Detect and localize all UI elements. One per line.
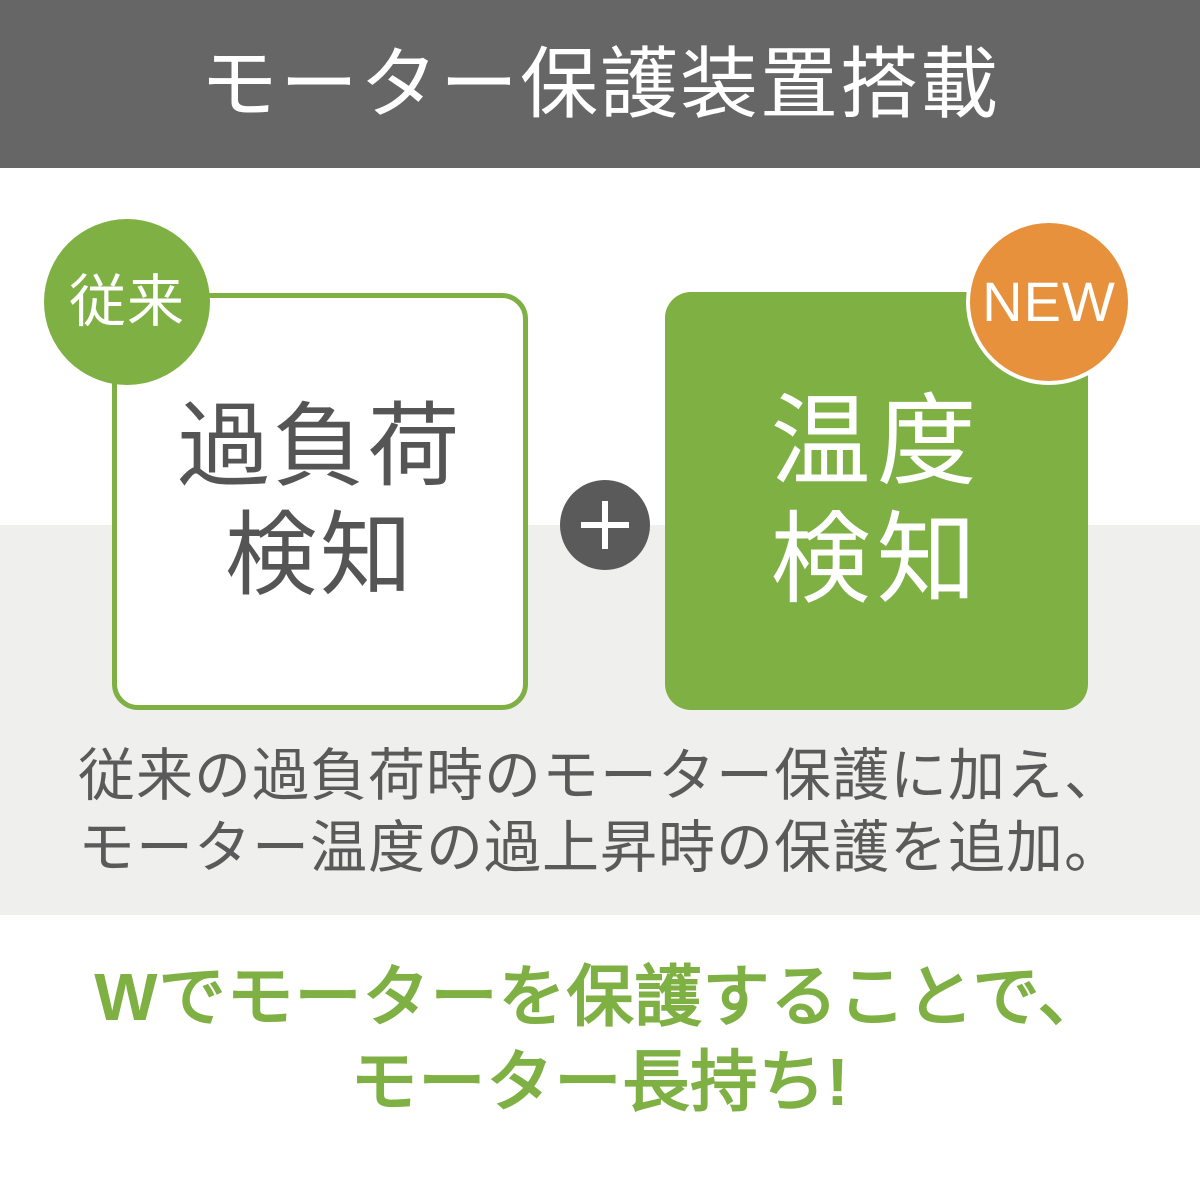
badge-new: NEW	[966, 219, 1132, 385]
plus-icon	[560, 480, 650, 570]
badge-conventional: 従来	[44, 219, 210, 385]
description-line-2: モーター温度の過上昇時の保護を追加。	[0, 812, 1200, 884]
badge-conventional-label: 従来	[69, 274, 185, 331]
tagline-block: Wでモーターを保護することで、 モーター長持ち!	[0, 955, 1200, 1125]
poster-root: モーター保護装置搭載 過負荷 検知 温度 検知 従来 NEW	[0, 0, 1200, 1200]
tagline-line-1: Wでモーターを保護することで、	[0, 955, 1200, 1040]
description-line-1: 従来の過負荷時のモーター保護に加え、	[0, 740, 1200, 812]
card-new-line-2: 検知	[771, 501, 983, 619]
card-conventional-line-2: 検知	[225, 502, 415, 611]
badge-new-label: NEW	[982, 274, 1116, 330]
card-new-line-1: 温度	[771, 383, 983, 501]
card-conventional-line-1: 過負荷	[177, 393, 462, 502]
tagline-line-2: モーター長持ち!	[0, 1040, 1200, 1125]
description-block: 従来の過負荷時のモーター保護に加え、 モーター温度の過上昇時の保護を追加。	[0, 740, 1200, 885]
plus-icon-vertical-bar	[602, 501, 608, 549]
